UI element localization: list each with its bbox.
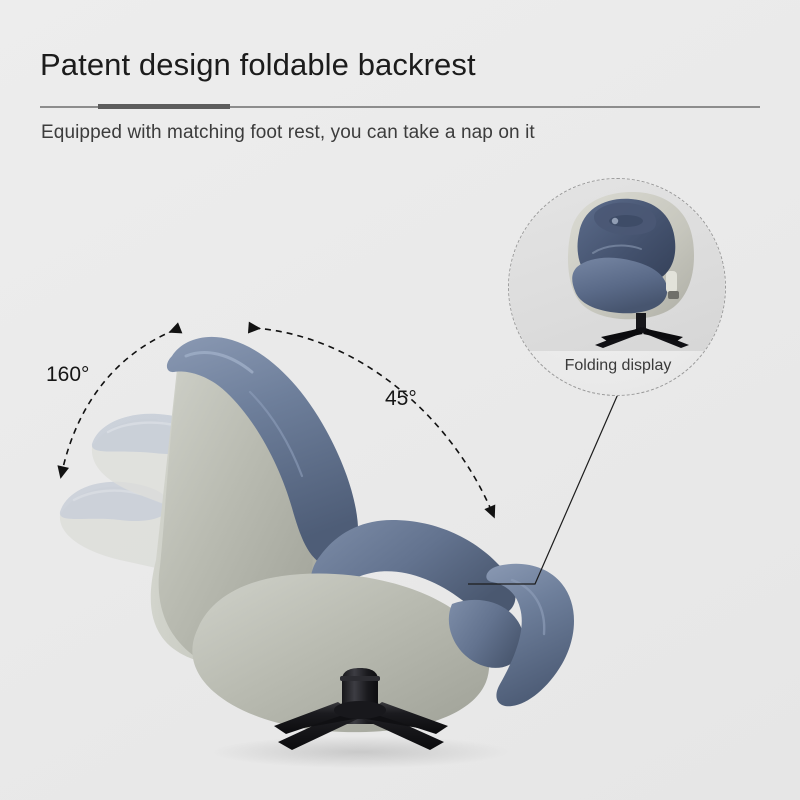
folding-display-callout: Folding display (508, 178, 726, 396)
control-button (668, 291, 679, 299)
infographic-page: Patent design foldable backrest Equipped… (0, 0, 800, 800)
side-panel (666, 271, 677, 293)
recline-angle-label: 160° (46, 363, 89, 387)
product-illustration: 160° 45° (0, 0, 800, 800)
callout-leader-line (468, 394, 618, 584)
fold-angle-label: 45° (385, 387, 417, 411)
folded-chair-artwork (509, 179, 726, 351)
brand-logo-mark (612, 218, 618, 224)
chair-main (151, 337, 574, 750)
folded-chair-image (509, 179, 726, 351)
column-ring (340, 676, 380, 681)
floor-shadow (210, 736, 510, 768)
callout-caption: Folding display (509, 357, 726, 375)
